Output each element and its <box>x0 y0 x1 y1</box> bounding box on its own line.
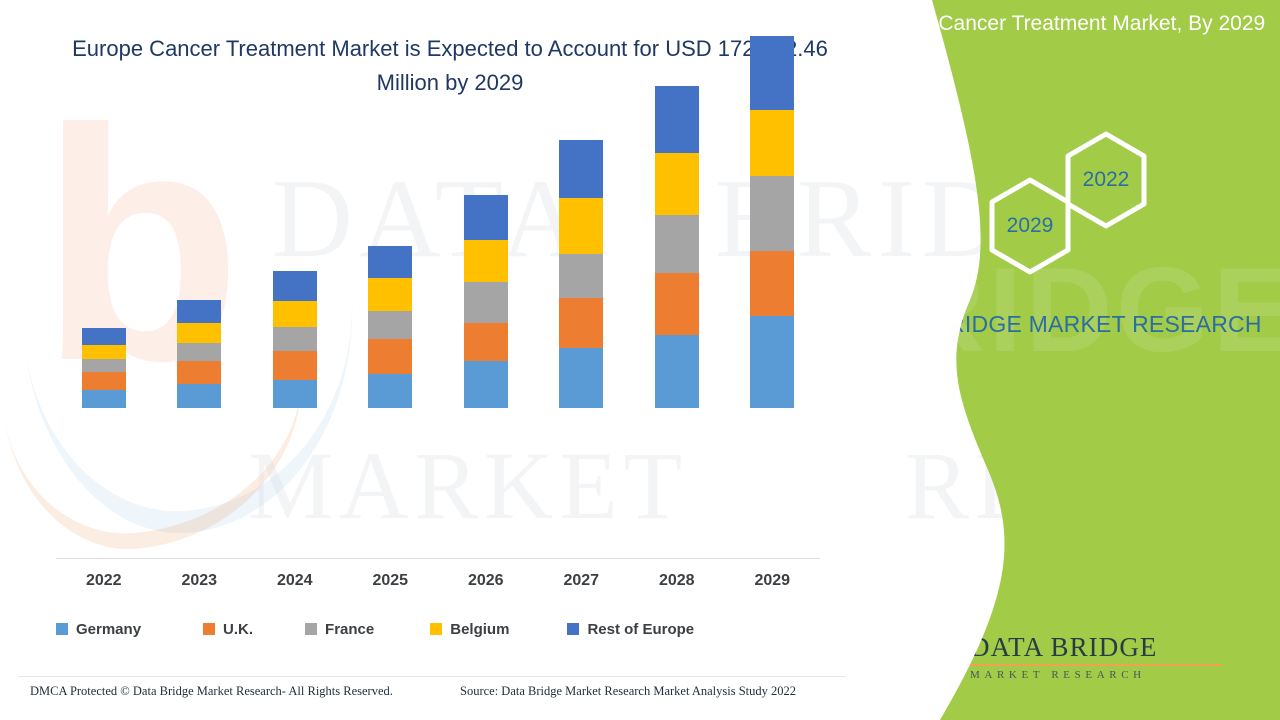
legend-item-france[interactable]: France <box>305 621 374 638</box>
chart-baseline <box>56 558 820 559</box>
bar-segment-2024-france <box>273 327 317 351</box>
bar-2022 <box>82 328 126 408</box>
panel-brand-name: DATA BRIDGE MARKET RESEARCH <box>860 308 1270 340</box>
bar-segment-2029-france <box>750 176 794 251</box>
bar-2026 <box>464 195 508 408</box>
legend-item-u-k[interactable]: U.K. <box>203 621 253 638</box>
bar-segment-2022-u-k <box>82 372 126 390</box>
bar-segment-2029-rest-of-europe <box>750 36 794 110</box>
bar-segment-2027-france <box>559 254 603 298</box>
infographic-canvas: b DATA BRIDGE MARKET RESEARCH Europe Can… <box>0 0 1280 720</box>
legend-label: Germany <box>76 621 141 638</box>
legend-swatch-icon <box>56 623 68 635</box>
bar-segment-2028-u-k <box>655 273 699 335</box>
bar-segment-2025-germany <box>368 374 412 408</box>
chart-legend: GermanyU.K.FranceBelgiumRest of Europe <box>56 616 820 642</box>
logo-main-text: DATA BRIDGE <box>970 632 1240 662</box>
x-tick-2027: 2027 <box>546 572 616 590</box>
bar-2024 <box>273 271 317 408</box>
bar-segment-2028-rest-of-europe <box>655 86 699 153</box>
logo-divider <box>970 664 1222 666</box>
bar-2025 <box>368 246 412 408</box>
bar-segment-2023-u-k <box>177 361 221 384</box>
dmca-notice: DMCA Protected © Data Bridge Market Rese… <box>30 684 393 699</box>
brand-side-panel: BRIDGE Europe Cancer Treatment Market, B… <box>840 0 1280 720</box>
legend-swatch-icon <box>305 623 317 635</box>
x-tick-2028: 2028 <box>642 572 712 590</box>
bar-2027 <box>559 140 603 408</box>
hexagon-2029: 2029 <box>986 176 1074 276</box>
bar-segment-2027-rest-of-europe <box>559 140 603 198</box>
hexagon-2022: 2022 <box>1062 130 1150 230</box>
bar-segment-2024-rest-of-europe <box>273 271 317 301</box>
bar-segment-2026-germany <box>464 361 508 408</box>
bar-segment-2025-u-k <box>368 339 412 374</box>
bar-segment-2023-belgium <box>177 323 221 343</box>
x-tick-2024: 2024 <box>260 572 330 590</box>
bar-2029 <box>750 36 794 408</box>
bar-segment-2022-germany <box>82 390 126 408</box>
x-axis-tick-labels: 20222023202420252026202720282029 <box>56 572 820 600</box>
x-tick-2023: 2023 <box>164 572 234 590</box>
bar-segment-2026-rest-of-europe <box>464 195 508 240</box>
logo-sub-text: MARKET RESEARCH <box>970 668 1240 682</box>
legend-swatch-icon <box>567 623 579 635</box>
legend-label: U.K. <box>223 621 253 638</box>
bar-segment-2022-belgium <box>82 345 126 359</box>
bar-segment-2028-belgium <box>655 153 699 215</box>
legend-label: Belgium <box>450 621 509 638</box>
bar-segment-2024-belgium <box>273 301 317 327</box>
bar-segment-2025-belgium <box>368 278 412 311</box>
company-logo: DATA BRIDGE MARKET RESEARCH <box>886 622 1246 694</box>
source-note: Source: Data Bridge Market Research Mark… <box>460 684 796 699</box>
bar-segment-2023-rest-of-europe <box>177 300 221 323</box>
bar-segment-2025-rest-of-europe <box>368 246 412 278</box>
data-bridge-logo-icon <box>886 624 958 690</box>
x-tick-2029: 2029 <box>737 572 807 590</box>
bar-segment-2025-france <box>368 311 412 339</box>
bar-segment-2026-belgium <box>464 240 508 282</box>
x-tick-2025: 2025 <box>355 572 425 590</box>
hexagon-2029-label: 2029 <box>1007 214 1054 238</box>
legend-swatch-icon <box>203 623 215 635</box>
legend-label: Rest of Europe <box>587 621 694 638</box>
logo-wordmark: DATA BRIDGE MARKET RESEARCH <box>970 632 1240 682</box>
bar-2023 <box>177 300 221 408</box>
footer-divider <box>18 676 846 677</box>
bar-segment-2024-germany <box>273 380 317 408</box>
bar-segment-2029-germany <box>750 316 794 408</box>
bar-segment-2027-u-k <box>559 298 603 348</box>
stacked-bar-chart <box>56 0 820 408</box>
legend-item-germany[interactable]: Germany <box>56 621 141 638</box>
bar-segment-2024-u-k <box>273 351 317 380</box>
legend-item-rest-of-europe[interactable]: Rest of Europe <box>567 621 694 638</box>
legend-label: France <box>325 621 374 638</box>
bar-segment-2027-belgium <box>559 198 603 254</box>
bar-segment-2022-france <box>82 359 126 372</box>
hexagon-2022-label: 2022 <box>1083 168 1130 192</box>
bar-segment-2022-rest-of-europe <box>82 328 126 345</box>
x-tick-2022: 2022 <box>69 572 139 590</box>
bar-segment-2026-u-k <box>464 323 508 361</box>
bar-segment-2029-u-k <box>750 251 794 316</box>
legend-swatch-icon <box>430 623 442 635</box>
panel-title: Europe Cancer Treatment Market, By 2029 <box>860 8 1270 40</box>
bar-segment-2023-germany <box>177 384 221 408</box>
bar-segment-2023-france <box>177 343 221 361</box>
legend-item-belgium[interactable]: Belgium <box>430 621 509 638</box>
bar-segment-2028-france <box>655 215 699 273</box>
x-tick-2026: 2026 <box>451 572 521 590</box>
bar-segment-2027-germany <box>559 348 603 408</box>
bar-segment-2028-germany <box>655 335 699 408</box>
bar-segment-2029-belgium <box>750 110 794 176</box>
bar-segment-2026-france <box>464 282 508 323</box>
bar-2028 <box>655 86 699 408</box>
hexagon-pair: 2022 2029 <box>968 130 1178 280</box>
